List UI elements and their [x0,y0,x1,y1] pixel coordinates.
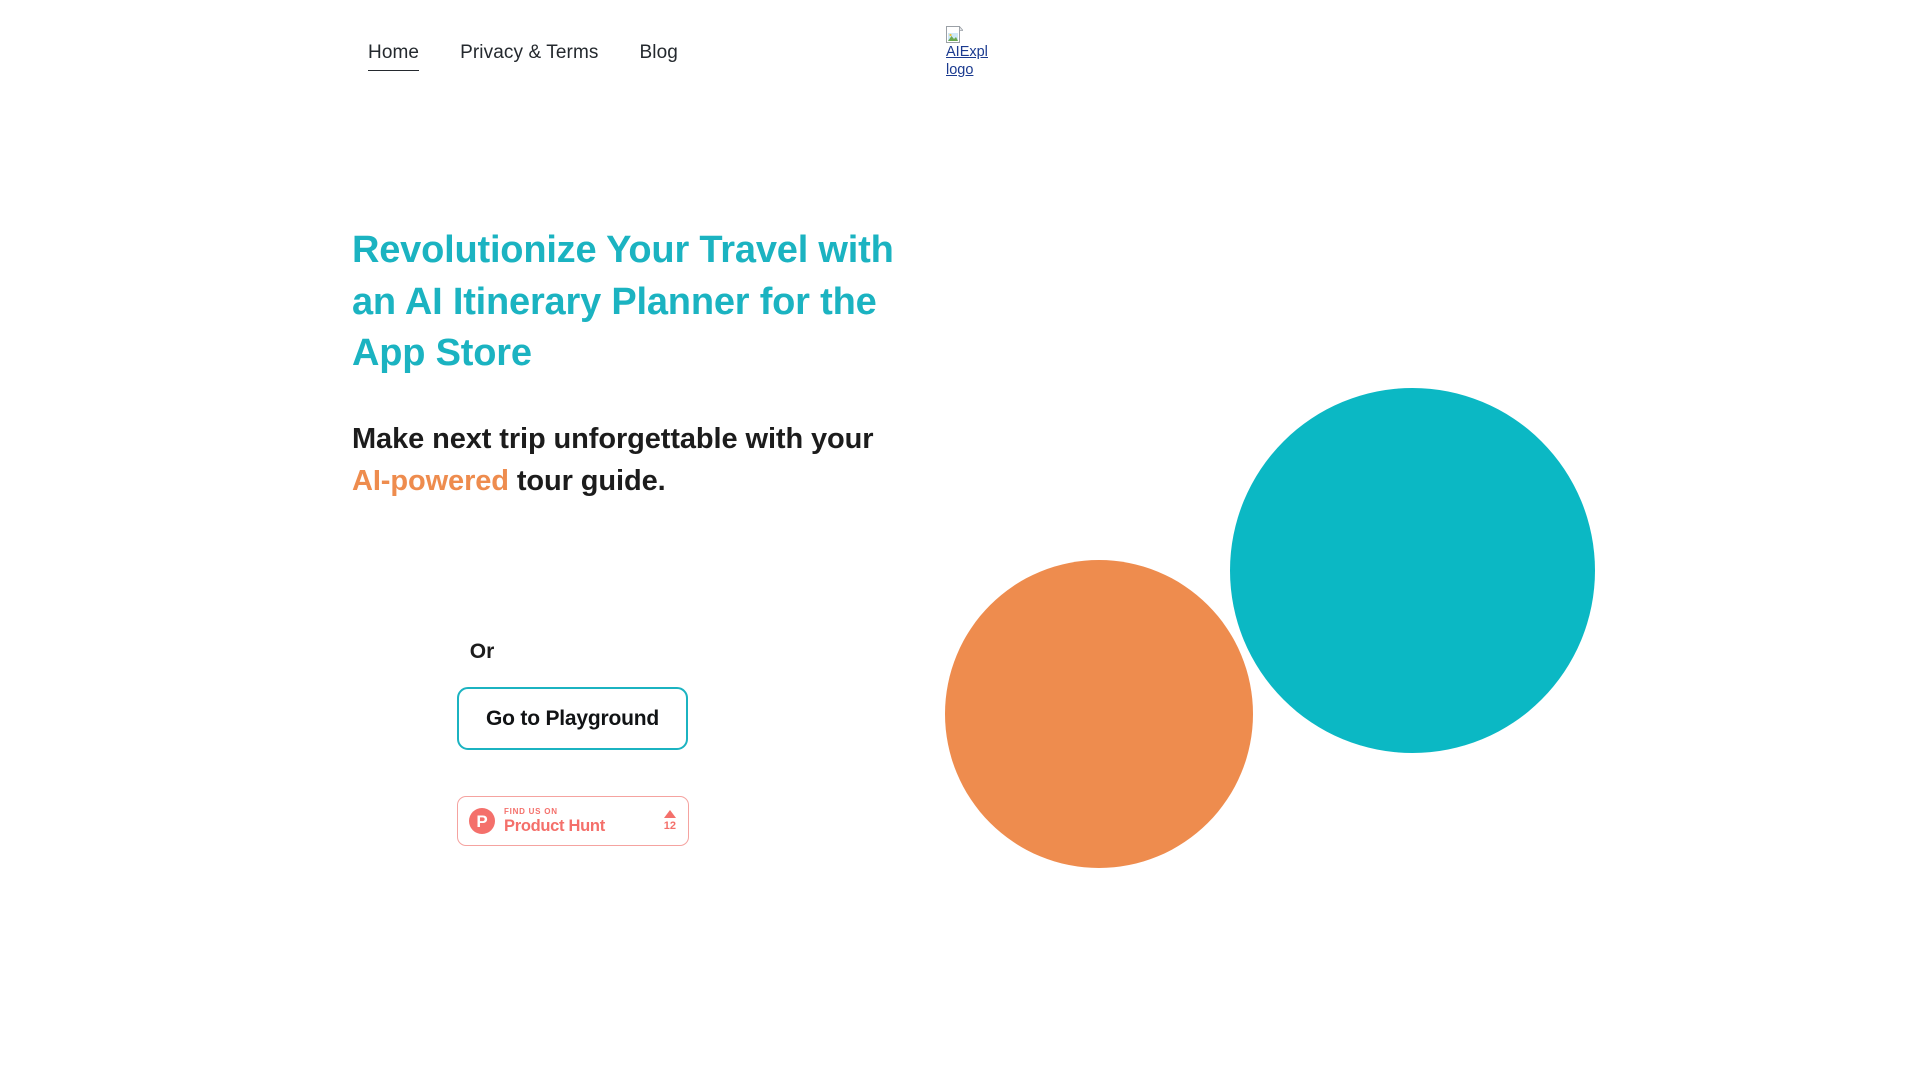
go-to-playground-button[interactable]: Go to Playground [457,687,688,750]
product-hunt-name: Product Hunt [504,817,655,835]
nav-link-blog[interactable]: Blog [640,40,678,66]
product-hunt-upvotes[interactable]: 12 [664,810,678,832]
nav-link-home[interactable]: Home [368,40,419,71]
product-hunt-badge[interactable]: P FIND US ON Product Hunt 12 [457,796,689,846]
page-title: Revolutionize Your Travel with an AI Iti… [352,225,927,380]
product-hunt-text: FIND US ON Product Hunt [504,807,655,835]
product-hunt-logo-icon: P [469,808,495,834]
hero-subtitle-accent: AI-powered [352,465,509,497]
hero-subtitle: Make next trip unforgettable with your A… [352,418,892,502]
hero-subtitle-part-2: tour guide. [509,465,666,497]
site-logo[interactable]: AIExplo logo [946,26,1006,86]
product-hunt-kicker: FIND US ON [504,807,655,817]
hero-subtitle-part-1: Make next trip unforgettable with your [352,423,873,455]
decorative-circle-orange [945,560,1253,868]
upvote-count: 12 [664,820,676,832]
or-divider-label: Or [352,640,612,664]
primary-nav: Home Privacy & Terms Blog [368,40,678,71]
site-header: Home Privacy & Terms Blog AIExplo logo [0,0,1920,110]
broken-image-placeholder[interactable]: AIExplo logo [946,26,990,79]
broken-image-alt-line-2: logo [946,62,990,80]
hero-content: Revolutionize Your Travel with an AI Iti… [352,225,952,502]
upvote-caret-icon [664,810,676,818]
broken-image-icon [946,26,963,43]
nav-link-privacy-terms[interactable]: Privacy & Terms [460,40,598,66]
broken-image-alt-line-1: AIExplo [946,44,988,62]
landing-page: Home Privacy & Terms Blog AIExplo logo [0,0,1920,1080]
decorative-circle-teal [1230,388,1595,753]
